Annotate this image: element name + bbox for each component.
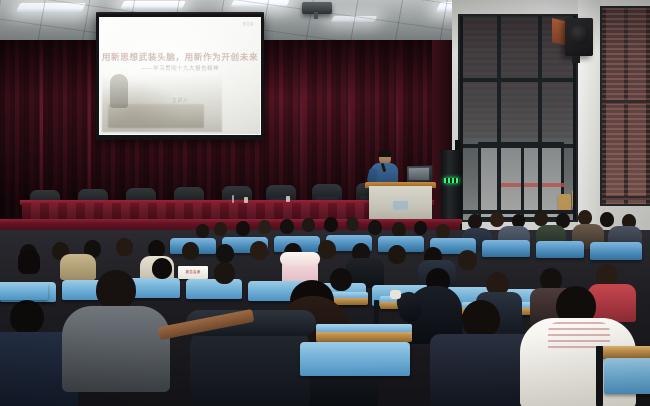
attendee-head — [414, 221, 427, 235]
attendee-head — [436, 224, 450, 239]
attendee-head — [468, 214, 482, 229]
lecture-hall-photo: 报告会 用新思想武装头脑，用新作为开创未来 ——学习贯彻十九大报告精神 主讲人 — [0, 0, 650, 406]
attendee-head — [258, 220, 271, 234]
lectern-emblem — [393, 201, 408, 210]
ceiling-light-panel — [16, 3, 86, 12]
projection-screen-frame: 报告会 用新思想武装头脑，用新作为开创未来 ——学习贯彻十九大报告精神 主讲人 — [96, 14, 264, 140]
attendee-head — [462, 300, 500, 338]
presenter-hair — [378, 150, 392, 157]
attendee-head — [392, 222, 406, 237]
attendee-head — [250, 241, 268, 260]
lecture-seat — [186, 279, 242, 299]
attendee-head — [116, 238, 133, 256]
attendee-hair — [18, 250, 40, 274]
attendee-head — [280, 219, 294, 234]
attendee-head — [458, 250, 477, 270]
attendee-head — [318, 240, 336, 259]
av-status-leds — [444, 178, 459, 183]
attendee-head — [578, 210, 592, 225]
water-cup — [244, 197, 248, 203]
attendee-head — [330, 268, 352, 291]
attendee-fur-hood — [280, 252, 320, 266]
wall-shading — [452, 0, 650, 236]
projection-screen: 报告会 用新思想武装头脑，用新作为开创未来 ——学习贯彻十九大报告精神 主讲人 — [99, 17, 261, 135]
attendee-head — [346, 217, 359, 231]
attendee-head — [214, 222, 227, 236]
lecture-seat — [536, 241, 584, 258]
attendee-head — [600, 212, 614, 227]
water-cup — [286, 196, 290, 202]
lecture-seat — [300, 342, 410, 376]
attendee-head — [152, 258, 172, 279]
attendee-head — [388, 245, 406, 264]
attendee-head — [324, 217, 338, 232]
attendee-head — [534, 211, 548, 226]
slide-presenter-line: 主讲人 — [100, 97, 260, 104]
ceiling-light-panel — [230, 0, 289, 7]
attendee-head — [368, 220, 382, 235]
slide-subtitle: ——学习贯彻十九大报告精神 — [100, 64, 260, 72]
attendee-head — [10, 300, 44, 334]
attendee-grey-hoodie — [62, 306, 170, 392]
desk-placard: 报告会席 — [178, 266, 208, 279]
table-microphone — [232, 195, 234, 203]
attendee-head — [302, 218, 315, 232]
lecture-seat — [590, 242, 642, 260]
attendee-torso — [430, 334, 534, 406]
ceiling-light-panel — [331, 16, 378, 22]
projector-mount — [314, 12, 318, 19]
attendee-head — [96, 270, 136, 310]
attendee-torso — [60, 254, 96, 280]
phone-in-hand — [390, 290, 401, 299]
attendee-head — [490, 212, 504, 227]
attendee-head — [214, 262, 235, 284]
slide-title: 用新思想武装头脑，用新作为开创未来 — [100, 51, 260, 63]
attendee-head — [196, 224, 209, 238]
presenter-laptop — [407, 166, 432, 184]
attendee-head — [236, 221, 250, 236]
attendee-head — [182, 242, 199, 260]
seat-support-post — [596, 346, 603, 406]
slide-header-note: 报告会 — [242, 22, 254, 27]
desk-surface — [316, 324, 412, 332]
lecture-seat — [0, 282, 48, 300]
ceiling-light-panel — [120, 1, 186, 9]
lecture-seat — [604, 358, 650, 394]
attendee-head — [216, 244, 234, 263]
lecture-seat — [482, 240, 530, 257]
